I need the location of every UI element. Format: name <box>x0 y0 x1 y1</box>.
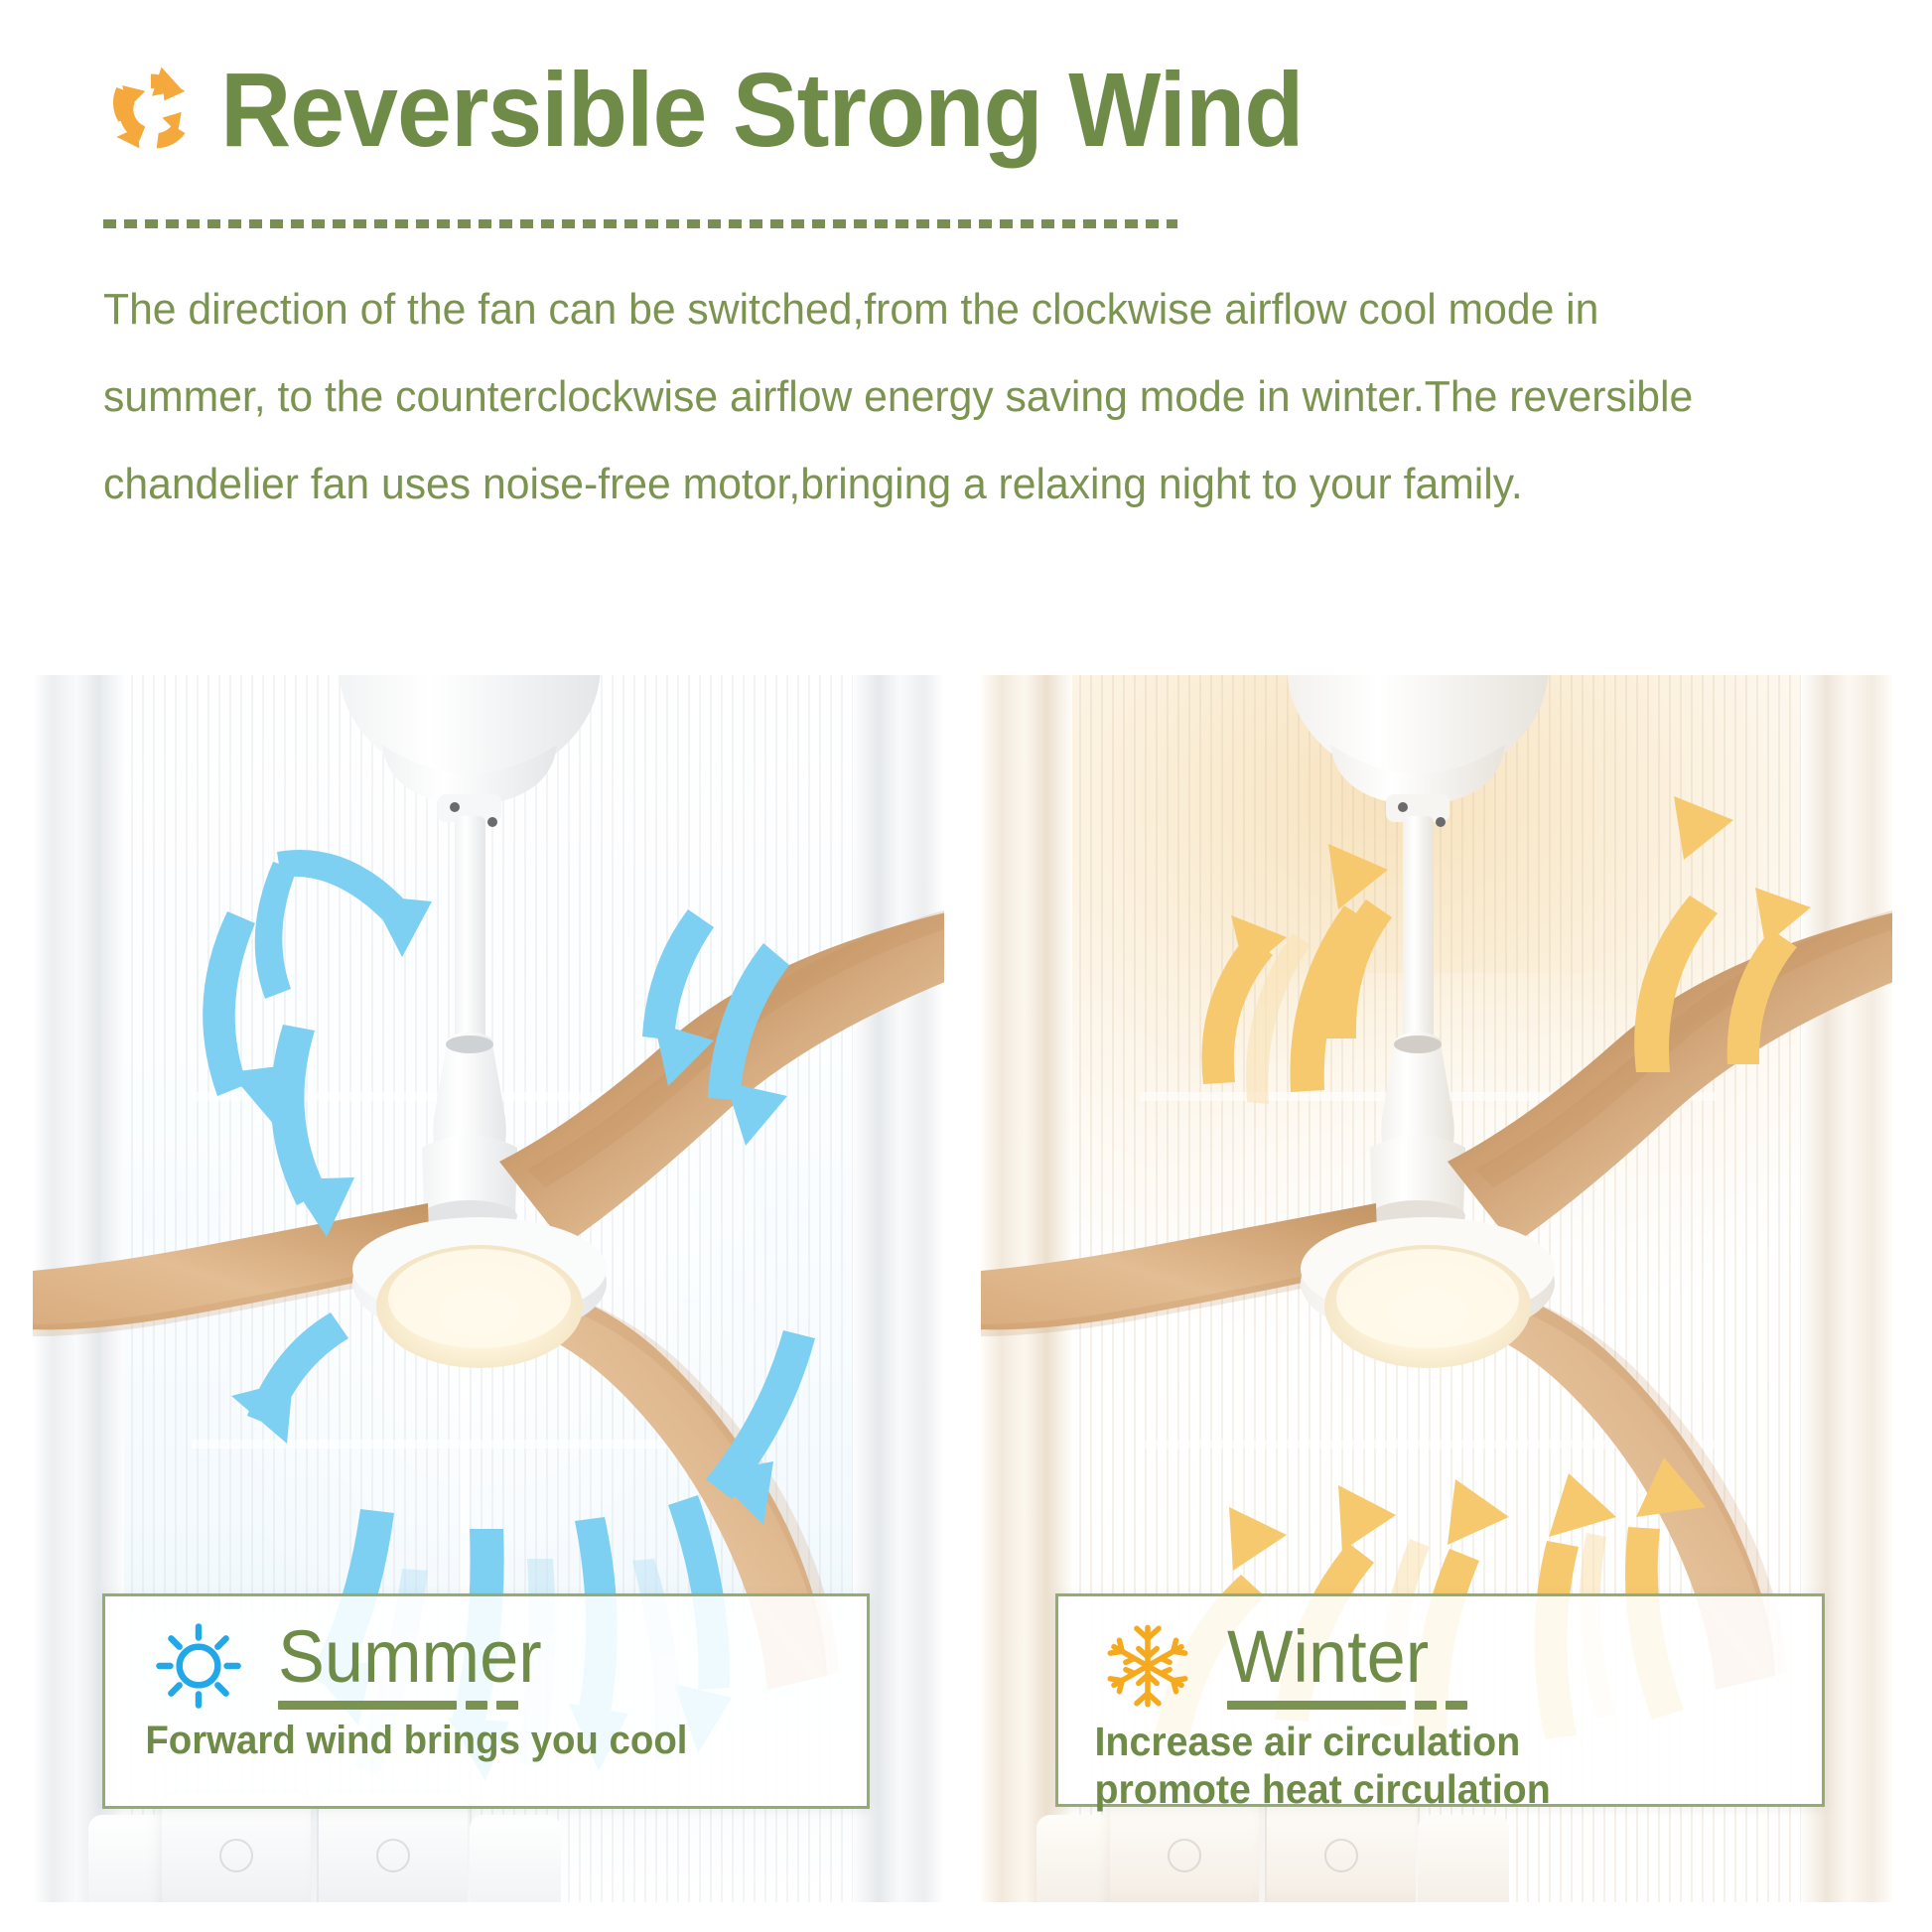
caption-subtitle-line2: promote heat circulation <box>1094 1765 1791 1813</box>
caption-card-summer: Summer Forward wind brings you cool <box>102 1593 870 1809</box>
rule-dash <box>496 1701 518 1710</box>
caption-title-wrap: Winter <box>1227 1622 1467 1710</box>
snowflake-icon <box>1102 1620 1193 1712</box>
comparison-panels: Summer Forward wind brings you cool <box>0 675 1932 1906</box>
panel-winter: Winter Increase air circulation promote … <box>981 675 1892 1902</box>
rule-long <box>278 1701 457 1710</box>
rule-dash <box>1446 1701 1467 1710</box>
page-title: Reversible Strong Wind <box>220 58 1304 163</box>
caption-subtitle-line1: Increase air circulation <box>1094 1718 1791 1765</box>
caption-rule <box>1227 1701 1467 1710</box>
caption-title-wrap: Summer <box>278 1622 556 1710</box>
dashed-divider <box>103 219 1177 228</box>
rule-dash <box>466 1701 487 1710</box>
sun-icon <box>153 1620 244 1712</box>
caption-subtitle: Forward wind brings you cool <box>105 1712 836 1763</box>
body-paragraph: The direction of the fan can be switched… <box>103 266 1769 528</box>
title-row: Reversible Strong Wind <box>103 58 1385 163</box>
infographic-page: Reversible Strong Wind The direction of … <box>0 0 1932 1932</box>
caption-rule <box>278 1701 556 1710</box>
caption-head: Winter <box>1058 1596 1822 1712</box>
rule-dash <box>1415 1701 1437 1710</box>
header-section: Reversible Strong Wind The direction of … <box>0 0 1932 675</box>
caption-title: Winter <box>1227 1622 1455 1692</box>
caption-head: Summer <box>105 1596 867 1712</box>
refresh-cycle-icon <box>103 63 199 158</box>
rule-long <box>1227 1701 1406 1710</box>
caption-subtitle: Increase air circulation promote heat ci… <box>1058 1712 1791 1813</box>
panel-summer: Summer Forward wind brings you cool <box>33 675 944 1902</box>
caption-card-winter: Winter Increase air circulation promote … <box>1055 1593 1825 1807</box>
caption-title: Summer <box>278 1622 542 1692</box>
